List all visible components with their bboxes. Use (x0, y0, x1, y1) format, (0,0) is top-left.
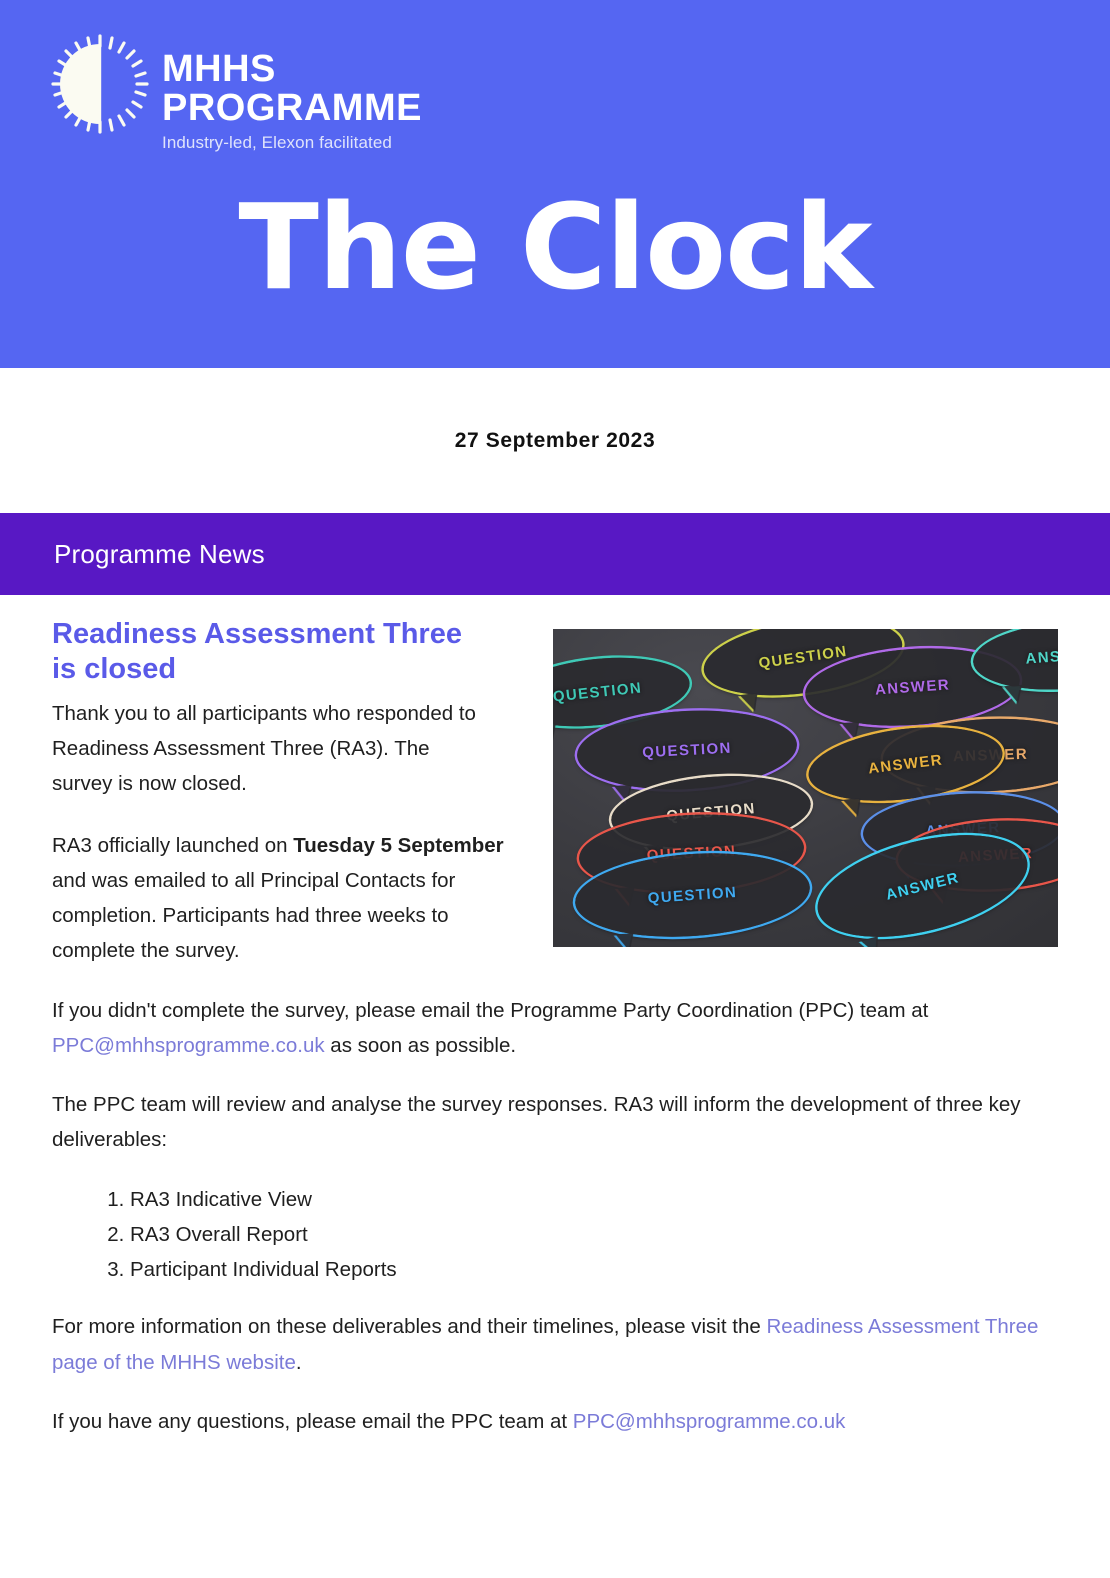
paragraph-5-text-before: For more information on these deliverabl… (52, 1315, 766, 1338)
date-strip: 27 September 2023 (0, 368, 1110, 513)
logo-line-1: MHHS (162, 50, 422, 89)
article-paragraph-4: The PPC team will review and analyse the… (52, 1087, 1058, 1158)
article-paragraph-3: If you didn't complete the survey, pleas… (52, 993, 1058, 1064)
section-banner-programme-news: Programme News (0, 513, 1110, 595)
article-image-question-answer: QUESTIONQUESTIONANSWERANSWERQUESTIONANSW… (553, 629, 1058, 947)
page-header: MHHS PROGRAMME Industry-led, Elexon faci… (0, 0, 1110, 368)
paragraph-2-text-after: and was emailed to all Principal Contact… (52, 869, 455, 963)
logo-tagline: Industry-led, Elexon facilitated (162, 133, 422, 153)
half-sun-rays-icon (48, 32, 152, 136)
section-banner-label: Programme News (54, 539, 265, 570)
ppc-email-link-2[interactable]: PPC@mhhsprogramme.co.uk (573, 1410, 846, 1433)
deliverables-list: RA3 Indicative ViewRA3 Overall ReportPar… (52, 1182, 1058, 1288)
article-title: Readiness Assessment Three is closed (52, 617, 472, 688)
article-readiness-assessment-three: QUESTIONQUESTIONANSWERANSWERQUESTIONANSW… (0, 595, 1110, 1463)
article-paragraph-2: RA3 officially launched on Tuesday 5 Sep… (52, 828, 523, 969)
article-paragraph-1: Thank you to all participants who respon… (52, 696, 492, 802)
paragraph-5-text-after: . (296, 1351, 302, 1374)
mhhs-logo: MHHS PROGRAMME Industry-led, Elexon faci… (48, 32, 422, 153)
article-paragraph-5: For more information on these deliverabl… (52, 1309, 1058, 1380)
paragraph-3-text-after: as soon as possible. (325, 1034, 516, 1057)
deliverable-item: RA3 Overall Report (130, 1217, 1058, 1252)
paragraph-6-text-before: If you have any questions, please email … (52, 1410, 573, 1433)
logo-wordmark: MHHS PROGRAMME Industry-led, Elexon faci… (162, 32, 422, 153)
logo-line-2: PROGRAMME (162, 89, 422, 128)
paragraph-3-text-before: If you didn't complete the survey, pleas… (52, 999, 928, 1022)
issue-date: 27 September 2023 (455, 429, 655, 453)
article-paragraph-6: If you have any questions, please email … (52, 1404, 1058, 1439)
paragraph-2-bold-date: Tuesday 5 September (293, 834, 503, 857)
paragraph-2-text-before: RA3 officially launched on (52, 834, 293, 857)
deliverable-item: RA3 Indicative View (130, 1182, 1058, 1217)
deliverable-item: Participant Individual Reports (130, 1252, 1058, 1287)
masthead-title: The Clock (0, 188, 1110, 306)
ppc-email-link-1[interactable]: PPC@mhhsprogramme.co.uk (52, 1034, 325, 1057)
